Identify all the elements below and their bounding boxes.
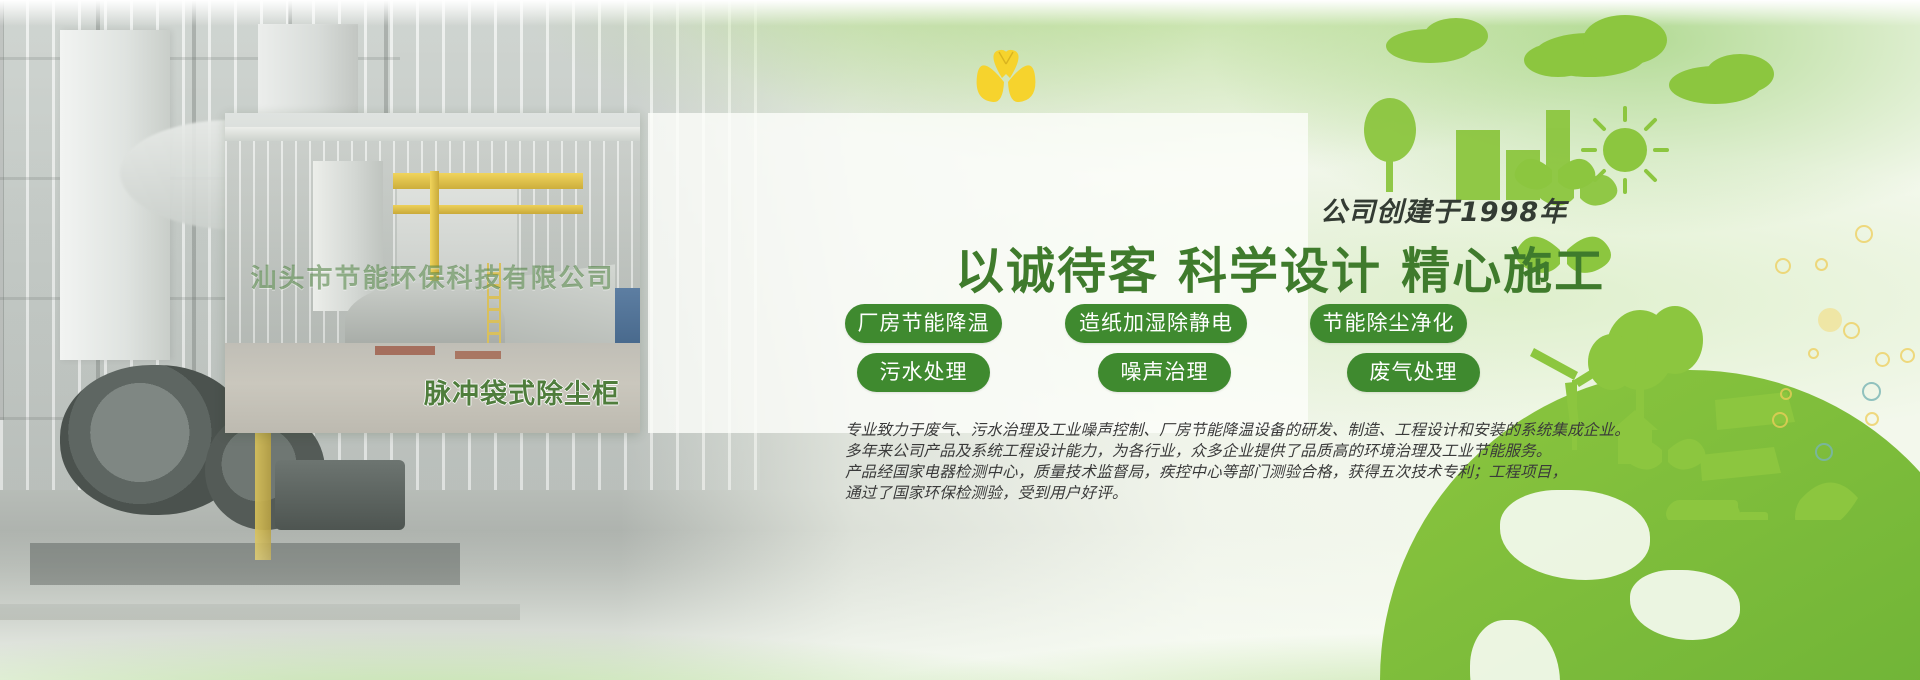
established-year-text: 公司创建于1998年	[1320, 190, 1567, 229]
company-description: 专业致力于废气、污水治理及工业噪声控制、厂房节能降温设备的研发、制造、工程设计和…	[845, 420, 1585, 504]
bokeh-dot	[1780, 388, 1792, 400]
service-pill-groups: 厂房节能降温 造纸加湿除静电 节能除尘净化 污水处理 噪声治理 废气处理	[845, 304, 1565, 402]
description-line: 产品经国家电器检测中心，质量技术监督局，疾控中心等部门测验合格，获得五次技术专利…	[845, 462, 1585, 483]
description-line: 专业致力于废气、污水治理及工业噪声控制、厂房节能降温设备的研发、制造、工程设计和…	[845, 420, 1585, 441]
bokeh-dot	[1843, 322, 1860, 339]
bg-motor	[275, 460, 405, 530]
bokeh-dot	[1815, 258, 1828, 271]
service-pill-paper-humidify[interactable]: 造纸加湿除静电	[1065, 304, 1247, 343]
service-pill-exhaust-gas[interactable]: 废气处理	[1347, 353, 1480, 392]
bokeh-dot	[1808, 348, 1819, 359]
photo-red-support	[455, 351, 501, 359]
bokeh-dot	[1900, 348, 1915, 363]
truck-icon	[1678, 500, 1768, 520]
service-pill-factory-cooling[interactable]: 厂房节能降温	[845, 304, 1002, 343]
continent-shape	[1630, 570, 1740, 640]
continent-shape	[1470, 620, 1560, 680]
service-pill-sewage-treatment[interactable]: 污水处理	[857, 353, 990, 392]
bg-rail	[0, 604, 520, 620]
bokeh-dot	[1772, 412, 1788, 428]
bg-machine-base	[30, 543, 460, 585]
cloud-icon	[1386, 18, 1488, 63]
bokeh-dot	[1862, 382, 1881, 401]
cloud-icon	[1669, 54, 1774, 104]
photo-roof	[225, 127, 640, 141]
bokeh-dot	[1775, 258, 1791, 274]
service-pill-dust-purify[interactable]: 节能除尘净化	[1310, 304, 1467, 343]
photo-caption: 脉冲袋式除尘柜	[424, 372, 620, 411]
eco-company-banner: 汕头市节能环保科技有限公司 脉冲袋式除尘柜 公司创建于1998年 以诚待客 科学…	[0, 0, 1920, 680]
service-pill-row-1: 厂房节能降温 造纸加湿除静电 节能除尘净化	[845, 304, 1565, 343]
main-headline: 以诚待客 科学设计 精心施工	[955, 232, 1605, 303]
tree-icon	[1364, 98, 1416, 192]
photo-watermark-company-name: 汕头市节能环保科技有限公司	[225, 258, 640, 295]
bokeh-dot	[1875, 352, 1890, 367]
bokeh-dot	[1865, 412, 1879, 426]
bokeh-dot	[1855, 225, 1873, 243]
service-pill-noise-control[interactable]: 噪声治理	[1098, 353, 1231, 392]
bokeh-dot	[1818, 308, 1842, 332]
photo-red-support	[375, 346, 435, 355]
solar-panel-icon	[1700, 392, 1795, 481]
photo-yellow-rail	[393, 205, 583, 214]
photo-yellow-walkway	[393, 173, 583, 189]
factory-photo-card: 汕头市节能环保科技有限公司 脉冲袋式除尘柜	[225, 113, 640, 433]
yellow-butterfly-icon	[972, 48, 1040, 110]
bokeh-dot	[1815, 443, 1833, 461]
description-line: 通过了国家环保检测验，受到用户好评。	[845, 483, 1585, 504]
leaf-icon	[1795, 482, 1858, 520]
description-line: 多年来公司产品及系统工程设计能力，为各行业，众多企业提供了品质高的环境治理及工业…	[845, 441, 1585, 462]
service-pill-row-2: 污水处理 噪声治理 废气处理	[845, 353, 1565, 392]
